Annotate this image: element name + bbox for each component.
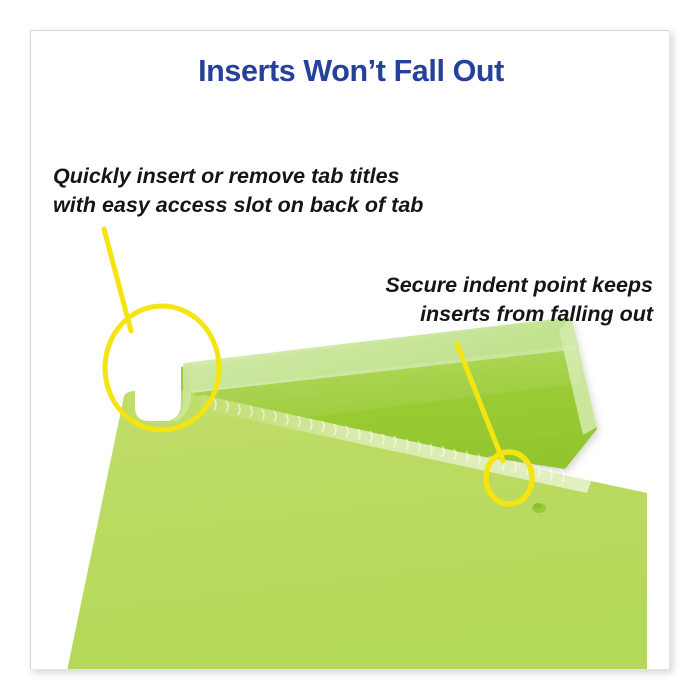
callout-access-slot: Quickly insert or remove tab titles with… bbox=[53, 162, 423, 220]
indent-point-dimple bbox=[532, 503, 546, 513]
weld-seam bbox=[199, 395, 591, 493]
tab-right-lip bbox=[559, 317, 597, 435]
leader-line-slot bbox=[104, 229, 131, 331]
callout-annotations bbox=[31, 31, 670, 670]
access-slot-notch bbox=[135, 363, 191, 421]
tab-panel bbox=[181, 319, 597, 469]
tab-gloss bbox=[191, 345, 583, 431]
leader-line-indent bbox=[457, 344, 503, 461]
marker-circle-slot bbox=[105, 306, 219, 430]
product-feature-card: Inserts Won’t Fall Out Quickly insert or… bbox=[30, 30, 670, 670]
screenshot-root: Inserts Won’t Fall Out Quickly insert or… bbox=[0, 0, 700, 700]
divider-sheet bbox=[67, 391, 647, 670]
marker-circle-indent bbox=[486, 452, 532, 504]
callout-indent-point: Secure indent point keeps inserts from f… bbox=[348, 271, 653, 329]
page-title: Inserts Won’t Fall Out bbox=[31, 54, 670, 89]
product-photo bbox=[31, 31, 670, 670]
